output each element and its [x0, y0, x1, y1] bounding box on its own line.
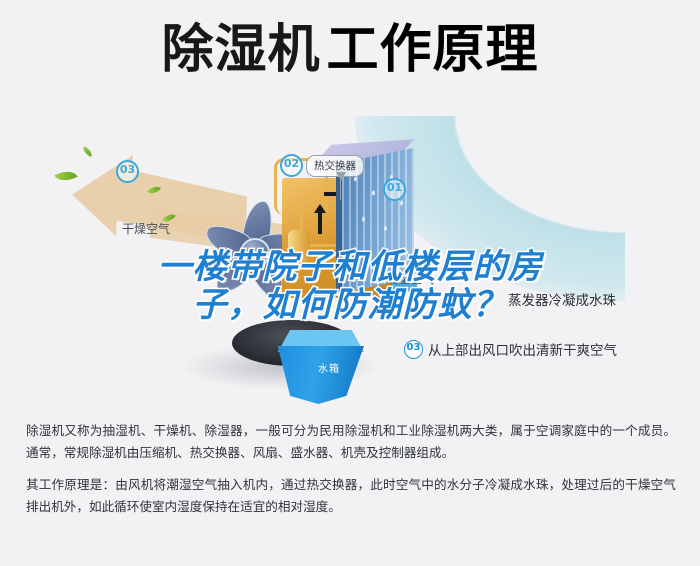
leaf-icon [54, 166, 77, 186]
badge-01: 01 [383, 178, 406, 201]
article-paragraph-1: 除湿机又称为抽湿机、干燥机、除湿器，一般可分为民用除湿机和工业除湿机两大类，属于… [26, 420, 676, 464]
label-dry-air: 干燥空气 [122, 220, 170, 237]
callout-stem-icon [340, 180, 341, 200]
article-paragraph-2: 其工作原理是：由风机将潮湿空气抽入机内，通过热交换器，此时空气中的水分子冷凝成水… [26, 474, 676, 518]
water-tank-label: 水箱 [318, 360, 340, 375]
flow-arrow-up-icon [318, 212, 322, 234]
badge-03: 03 [116, 160, 139, 183]
step-text-03: 从上部出风口吹出清新干爽空气 [428, 339, 617, 359]
leaf-icon [81, 146, 94, 157]
article-body: 除湿机又称为抽湿机、干燥机、除湿器，一般可分为民用除湿机和工业除湿机两大类，属于… [26, 420, 676, 528]
step-text-02: 蒸发器冷凝成水珠 [508, 289, 616, 309]
water-tank: 水箱 [272, 330, 368, 404]
title-part-dehumidifier: 除湿机 [161, 20, 320, 80]
working-principle-diagram: 水箱 02 热交换器 03 干燥空气 01 潮湿空气 蒸发器冷凝成水珠 03 从… [0, 108, 700, 408]
callout-heat-exchanger: 热交换器 [306, 155, 364, 177]
flow-arrow-up-head-icon [314, 204, 326, 213]
badge-02: 02 [280, 154, 303, 177]
step-badge-03: 03 [404, 340, 423, 359]
page-title: 除湿机工作原理 [0, 24, 700, 76]
compressor-cylinder-icon [288, 230, 310, 270]
label-humid-air: 潮湿空气 [386, 270, 434, 287]
title-part-principle: 工作原理 [327, 20, 539, 80]
